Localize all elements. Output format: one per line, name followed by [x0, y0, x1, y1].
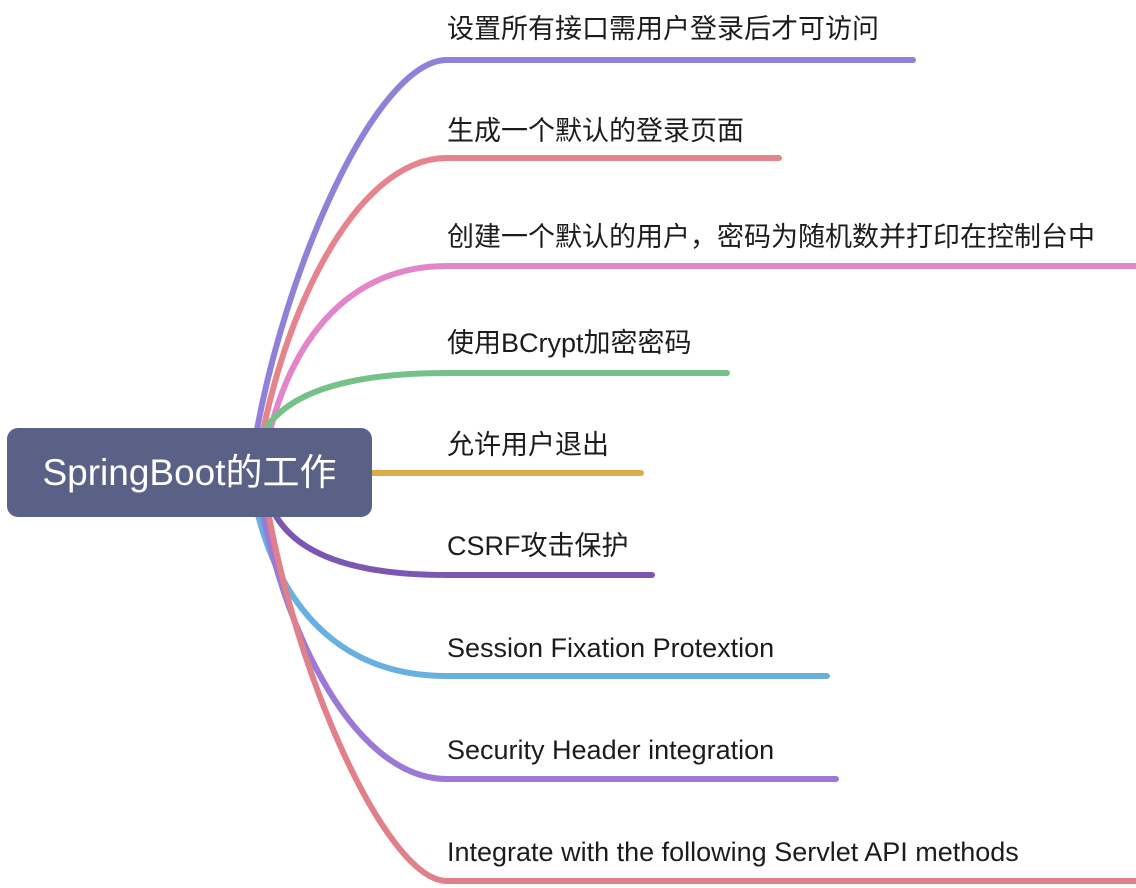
central-node[interactable]: SpringBoot的工作	[7, 428, 372, 517]
branch-2-connector	[256, 158, 779, 473]
branch-8-connector	[256, 473, 836, 779]
branch-1-label[interactable]: 设置所有接口需用户登录后才可访问	[447, 16, 879, 43]
branch-8-label[interactable]: Security Header integration	[447, 737, 774, 764]
branch-3-label[interactable]: 创建一个默认的用户，密码为随机数并打印在控制台中	[447, 224, 1095, 251]
central-node-label: SpringBoot的工作	[42, 454, 336, 491]
branch-4-label[interactable]: 使用BCrypt加密密码	[447, 330, 692, 357]
branch-9-label[interactable]: Integrate with the following Servlet API…	[447, 839, 1019, 866]
branch-2-label[interactable]: 生成一个默认的登录页面	[447, 118, 744, 145]
branch-3-connector	[262, 266, 1136, 473]
branch-9-connector	[262, 473, 1136, 881]
mindmap-canvas: SpringBoot的工作 设置所有接口需用户登录后才可访问生成一个默认的登录页…	[0, 0, 1136, 888]
branch-7-label[interactable]: Session Fixation Protextion	[447, 635, 774, 662]
branch-6-label[interactable]: CSRF攻击保护	[447, 533, 629, 560]
branch-5-label[interactable]: 允许用户退出	[447, 432, 609, 459]
